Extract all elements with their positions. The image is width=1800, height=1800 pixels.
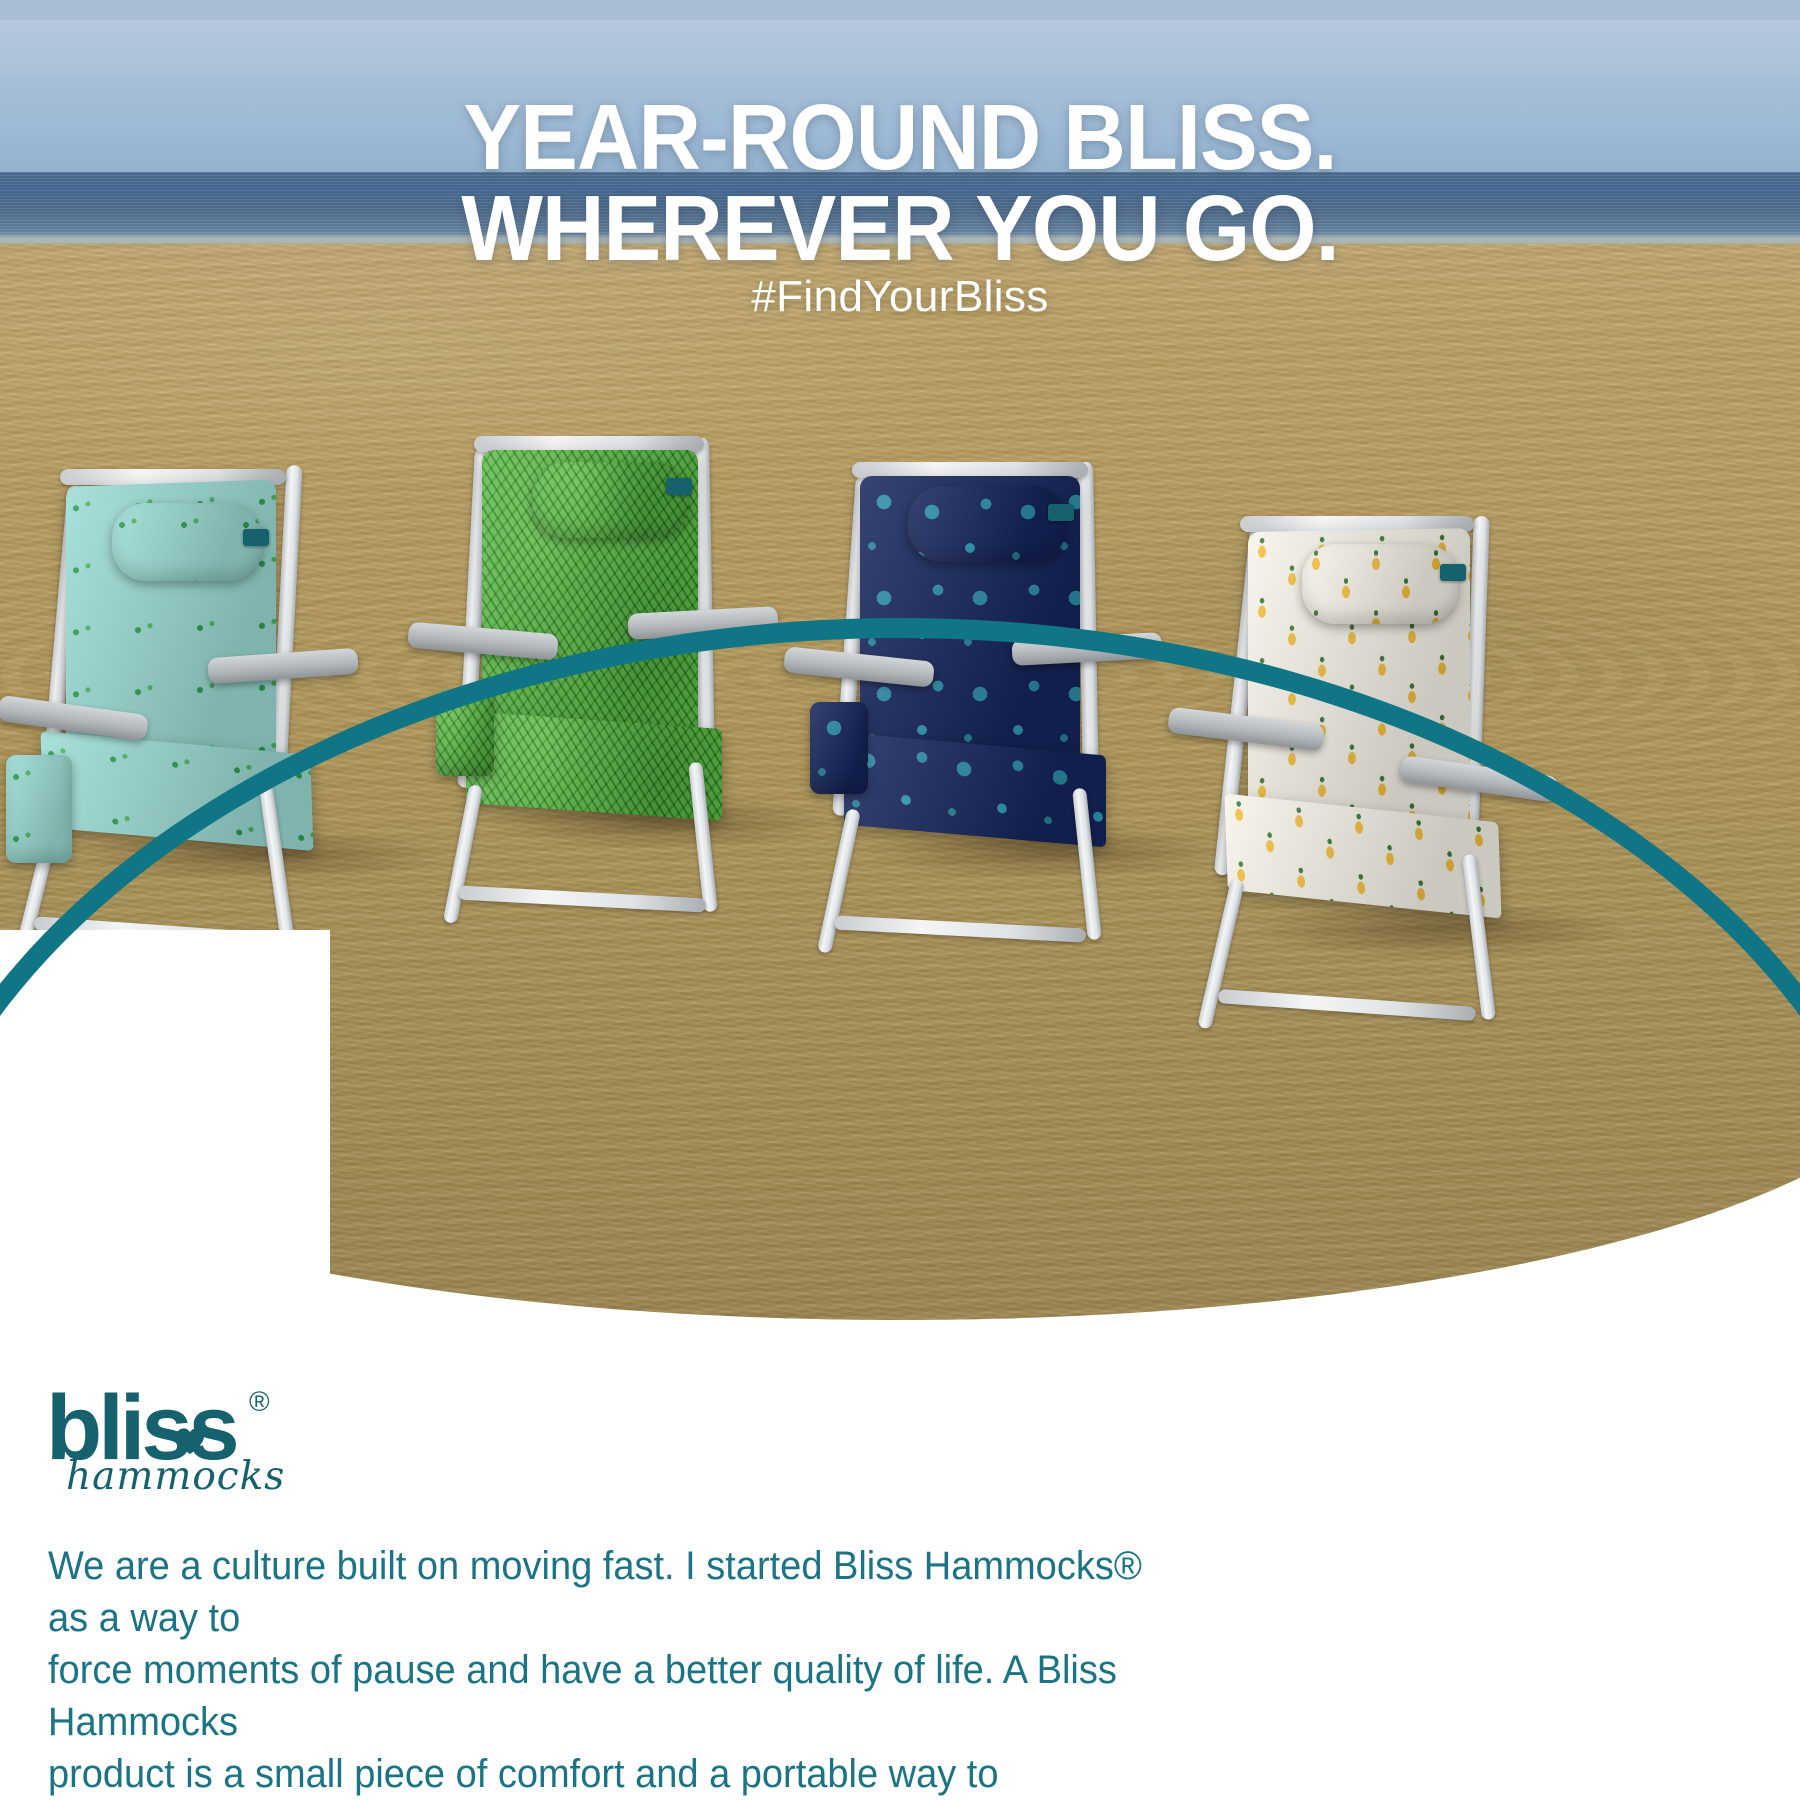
brand-tag-icon	[1440, 564, 1466, 581]
founder-quote: We are a culture built on moving fast. I…	[48, 1540, 1169, 1800]
chair-cooler-pouch	[436, 690, 494, 776]
chair-pillow	[1302, 544, 1458, 624]
brand-tag-icon	[243, 529, 269, 546]
chair-pillow	[908, 486, 1066, 562]
page-title: YEAR-ROUND BLISS. WHEREVER YOU GO.	[63, 92, 1737, 274]
heart-icon	[175, 1378, 205, 1406]
headline-line-1: YEAR-ROUND BLISS.	[463, 85, 1336, 189]
white-fill	[0, 930, 330, 1360]
quote-line-1: We are a culture built on moving fast. I…	[48, 1540, 1169, 1644]
chair-palm-tree[interactable]	[60, 455, 460, 875]
chair-pineapple[interactable]	[1240, 510, 1640, 950]
chair-pillow	[532, 462, 688, 538]
quote-line-3: product is a small piece of comfort and …	[48, 1748, 1169, 1800]
headline-line-2: WHEREVER YOU GO.	[63, 183, 1737, 274]
brand-logo[interactable]: bliss ® hammocks	[46, 1382, 265, 1519]
registered-mark: ®	[249, 1388, 266, 1416]
chair-pillow	[112, 503, 262, 581]
chair-cooler-pouch	[6, 755, 72, 863]
chair-cooler-pouch	[810, 702, 868, 794]
brand-tag-icon	[1048, 504, 1074, 521]
logo-subtext: hammocks	[66, 1454, 285, 1499]
hashtag: #FindYourBliss	[0, 272, 1800, 322]
chair-hibiscus[interactable]	[850, 452, 1240, 872]
chair-seat-fabric	[466, 711, 722, 821]
quote-line-2: force moments of pause and have a better…	[48, 1644, 1169, 1748]
chair-banana-leaf[interactable]	[470, 432, 850, 842]
ad-canvas: YEAR-ROUND BLISS. WHEREVER YOU GO. #Find…	[0, 0, 1800, 1800]
brand-tag-icon	[666, 478, 692, 495]
